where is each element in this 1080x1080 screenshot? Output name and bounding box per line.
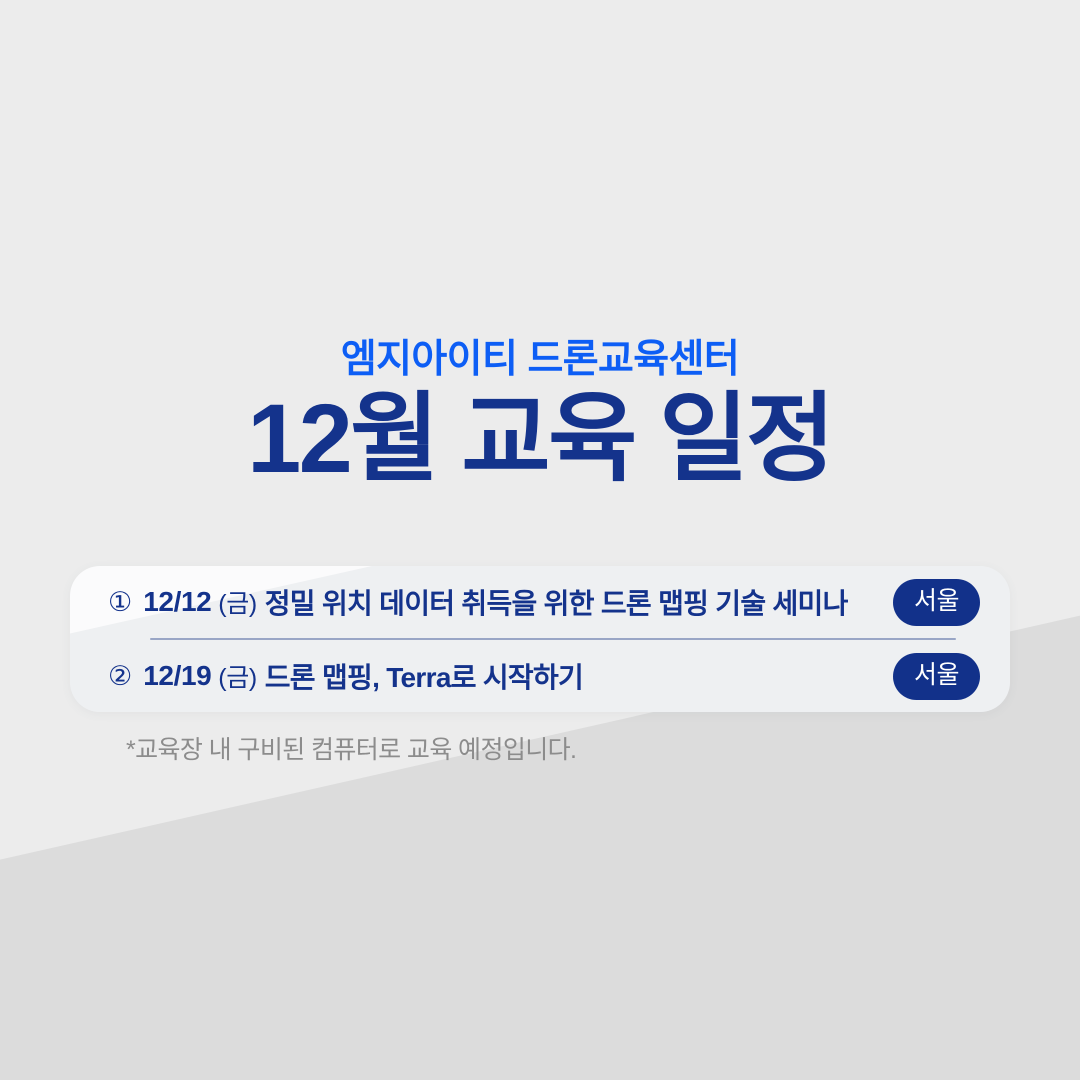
row-weekday: (금) (218, 658, 256, 694)
center-name-eyebrow: 엠지아이티 드론교육센터 (0, 340, 1080, 381)
schedule-list: ① 12/12 (금) 정밀 위치 데이터 취득을 위한 드론 맵핑 기술 세미… (92, 566, 988, 712)
row-divider (150, 638, 956, 640)
row-course-title: 드론 맵핑, Terra로 시작하기 (265, 656, 583, 696)
row-index-circled-number: ① (108, 589, 132, 616)
headline-block: 엠지아이티 드론교육센터 12월 교육 일정 (0, 340, 1080, 492)
row-index-circled-number: ② (108, 663, 132, 690)
poster-canvas: 엠지아이티 드론교육센터 12월 교육 일정 ① 12/12 (금) 정밀 위치… (0, 0, 1080, 1080)
schedule-row[interactable]: ① 12/12 (금) 정밀 위치 데이터 취득을 위한 드론 맵핑 기술 세미… (92, 566, 988, 638)
page-title: 12월 교육 일정 (0, 387, 1080, 492)
background-diagonal-band (0, 0, 1080, 1080)
row-date: 12/19 (143, 660, 211, 692)
location-badge: 서울 (893, 579, 980, 626)
footnote-text: *교육장 내 구비된 컴퓨터로 교육 예정입니다. (126, 730, 576, 766)
row-weekday: (금) (218, 584, 256, 620)
row-date: 12/12 (143, 586, 211, 618)
schedule-row[interactable]: ② 12/19 (금) 드론 맵핑, Terra로 시작하기 서울 (92, 640, 988, 712)
row-course-title: 정밀 위치 데이터 취득을 위한 드론 맵핑 기술 세미나 (265, 582, 848, 622)
schedule-card: ① 12/12 (금) 정밀 위치 데이터 취득을 위한 드론 맵핑 기술 세미… (70, 566, 1010, 712)
location-badge: 서울 (893, 653, 980, 700)
